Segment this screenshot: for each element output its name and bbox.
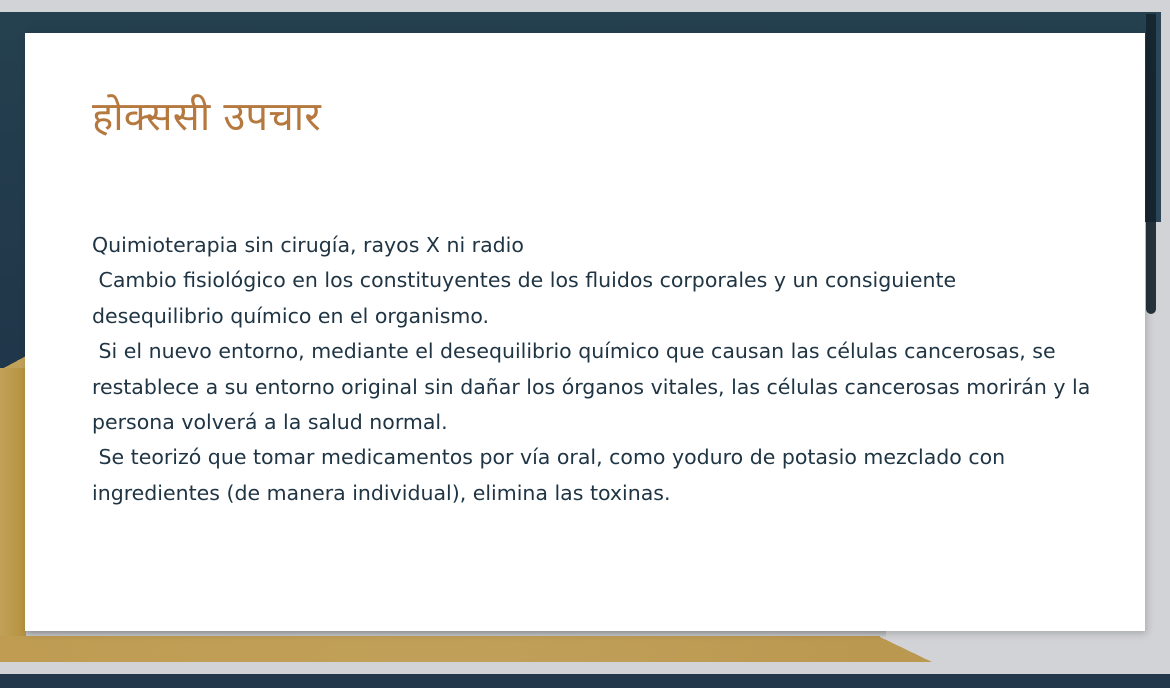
gold-bottom-band — [0, 636, 880, 663]
body-paragraph-1: Quimioterapia sin cirugía, rayos X ni ra… — [92, 228, 1092, 263]
top-grey-strip — [0, 0, 1170, 12]
bottom-grey-strip — [0, 662, 1170, 674]
bottom-teal-bar — [0, 674, 1170, 688]
body-paragraph-4: Se teorizó que tomar medicamentos por ví… — [92, 440, 1092, 511]
presentation-slide: होक्ससी उपचार Quimioterapia sin cirugía,… — [0, 0, 1170, 688]
gold-left-band — [0, 368, 26, 663]
body-paragraph-3: Si el nuevo entorno, mediante el desequi… — [92, 334, 1092, 440]
slide-title: होक्ससी उपचार — [92, 92, 1052, 142]
frame-right-edge-band — [1156, 12, 1161, 222]
vertical-accent-stripe — [1146, 14, 1156, 314]
gold-bottom-tip — [878, 636, 934, 663]
slide-body-text: Quimioterapia sin cirugía, rayos X ni ra… — [92, 228, 1092, 511]
frame-teal-left-band — [0, 12, 26, 370]
body-paragraph-2: Cambio fisiológico en los constituyentes… — [92, 263, 1092, 334]
